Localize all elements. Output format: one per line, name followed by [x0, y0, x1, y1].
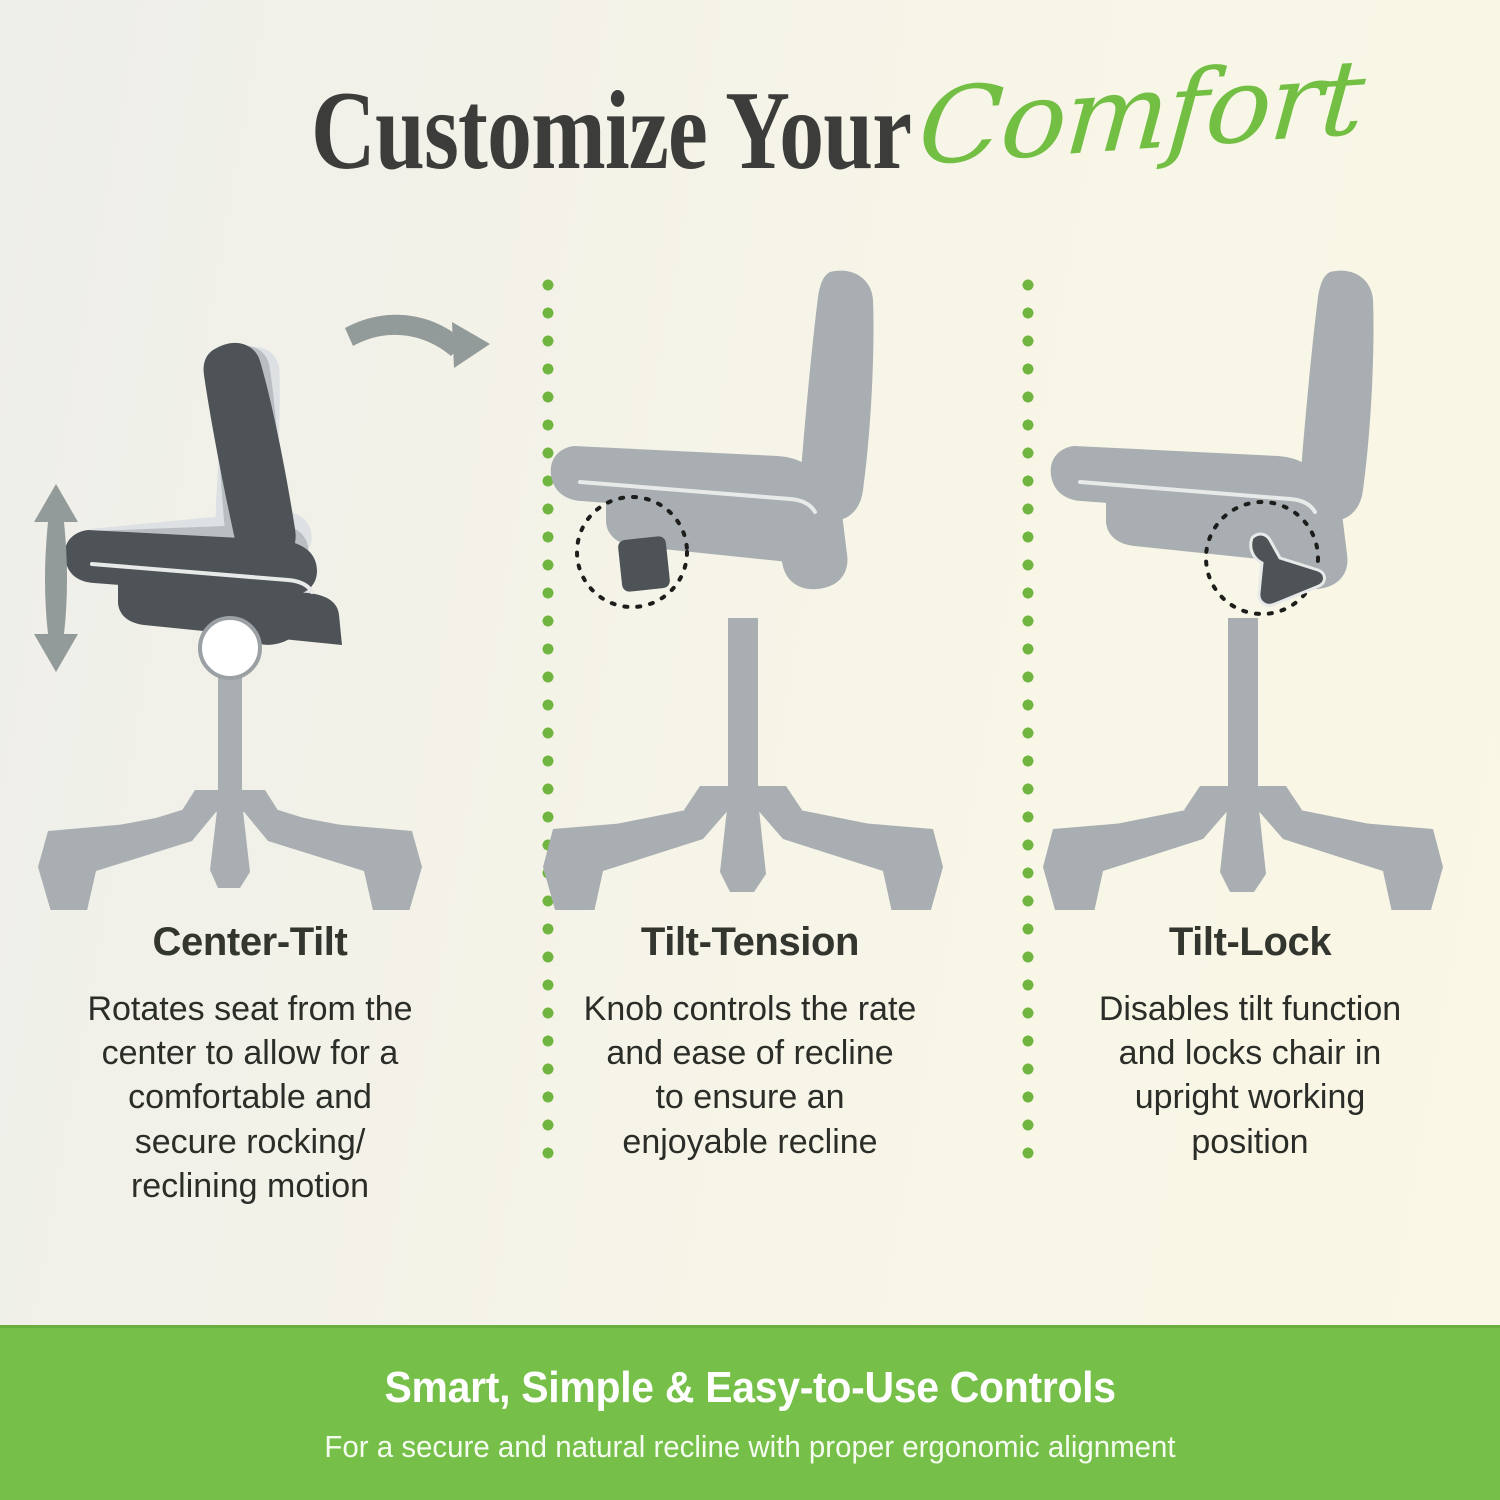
chair-body-dark: [65, 343, 342, 645]
chair-illustration-tilt-tension: [500, 250, 1000, 910]
page-title-script: Comfort: [916, 45, 1367, 181]
page-title: Customize Your Comfort: [0, 56, 1500, 206]
feature-column-tilt-lock: Tilt-Lock Disables tilt function and loc…: [1000, 250, 1500, 1270]
curved-arrow-icon: [345, 315, 490, 368]
feature-column-center-tilt: Center-Tilt Rotates seat from the center…: [0, 250, 500, 1270]
column-title-tilt-tension: Tilt-Tension: [641, 920, 859, 965]
double-arrow-icon: [34, 484, 78, 672]
feature-column-tilt-tension: Tilt-Tension Knob controls the rate and …: [500, 250, 1000, 1270]
chair-illustration-center-tilt: [0, 250, 500, 910]
feature-columns: Center-Tilt Rotates seat from the center…: [0, 250, 1500, 1270]
column-body-center-tilt: Rotates seat from the center to allow fo…: [50, 987, 450, 1208]
footer-subtitle: For a secure and natural recline with pr…: [324, 1429, 1175, 1465]
infographic-root: Customize Your Comfort: [0, 0, 1500, 1500]
chair-base-icon: [543, 618, 943, 910]
column-body-tilt-tension: Knob controls the rate and ease of recli…: [550, 987, 950, 1164]
footer-title: Smart, Simple & Easy-to-Use Controls: [384, 1363, 1115, 1413]
column-body-tilt-lock: Disables tilt function and locks chair i…: [1050, 987, 1450, 1164]
column-title-tilt-lock: Tilt-Lock: [1169, 920, 1331, 965]
chair-base-icon: [38, 648, 422, 910]
chair-body-gray: [1051, 271, 1374, 590]
chair-body-gray: [551, 271, 874, 590]
page-title-main: Customize Your: [311, 75, 911, 187]
footer-banner: Smart, Simple & Easy-to-Use Controls For…: [0, 1325, 1500, 1500]
chair-base-icon: [1043, 618, 1443, 910]
column-title-center-tilt: Center-Tilt: [153, 920, 348, 965]
tension-knob-icon: [617, 536, 670, 593]
chair-illustration-tilt-lock: [1000, 250, 1500, 910]
pivot-point-icon: [200, 618, 260, 678]
